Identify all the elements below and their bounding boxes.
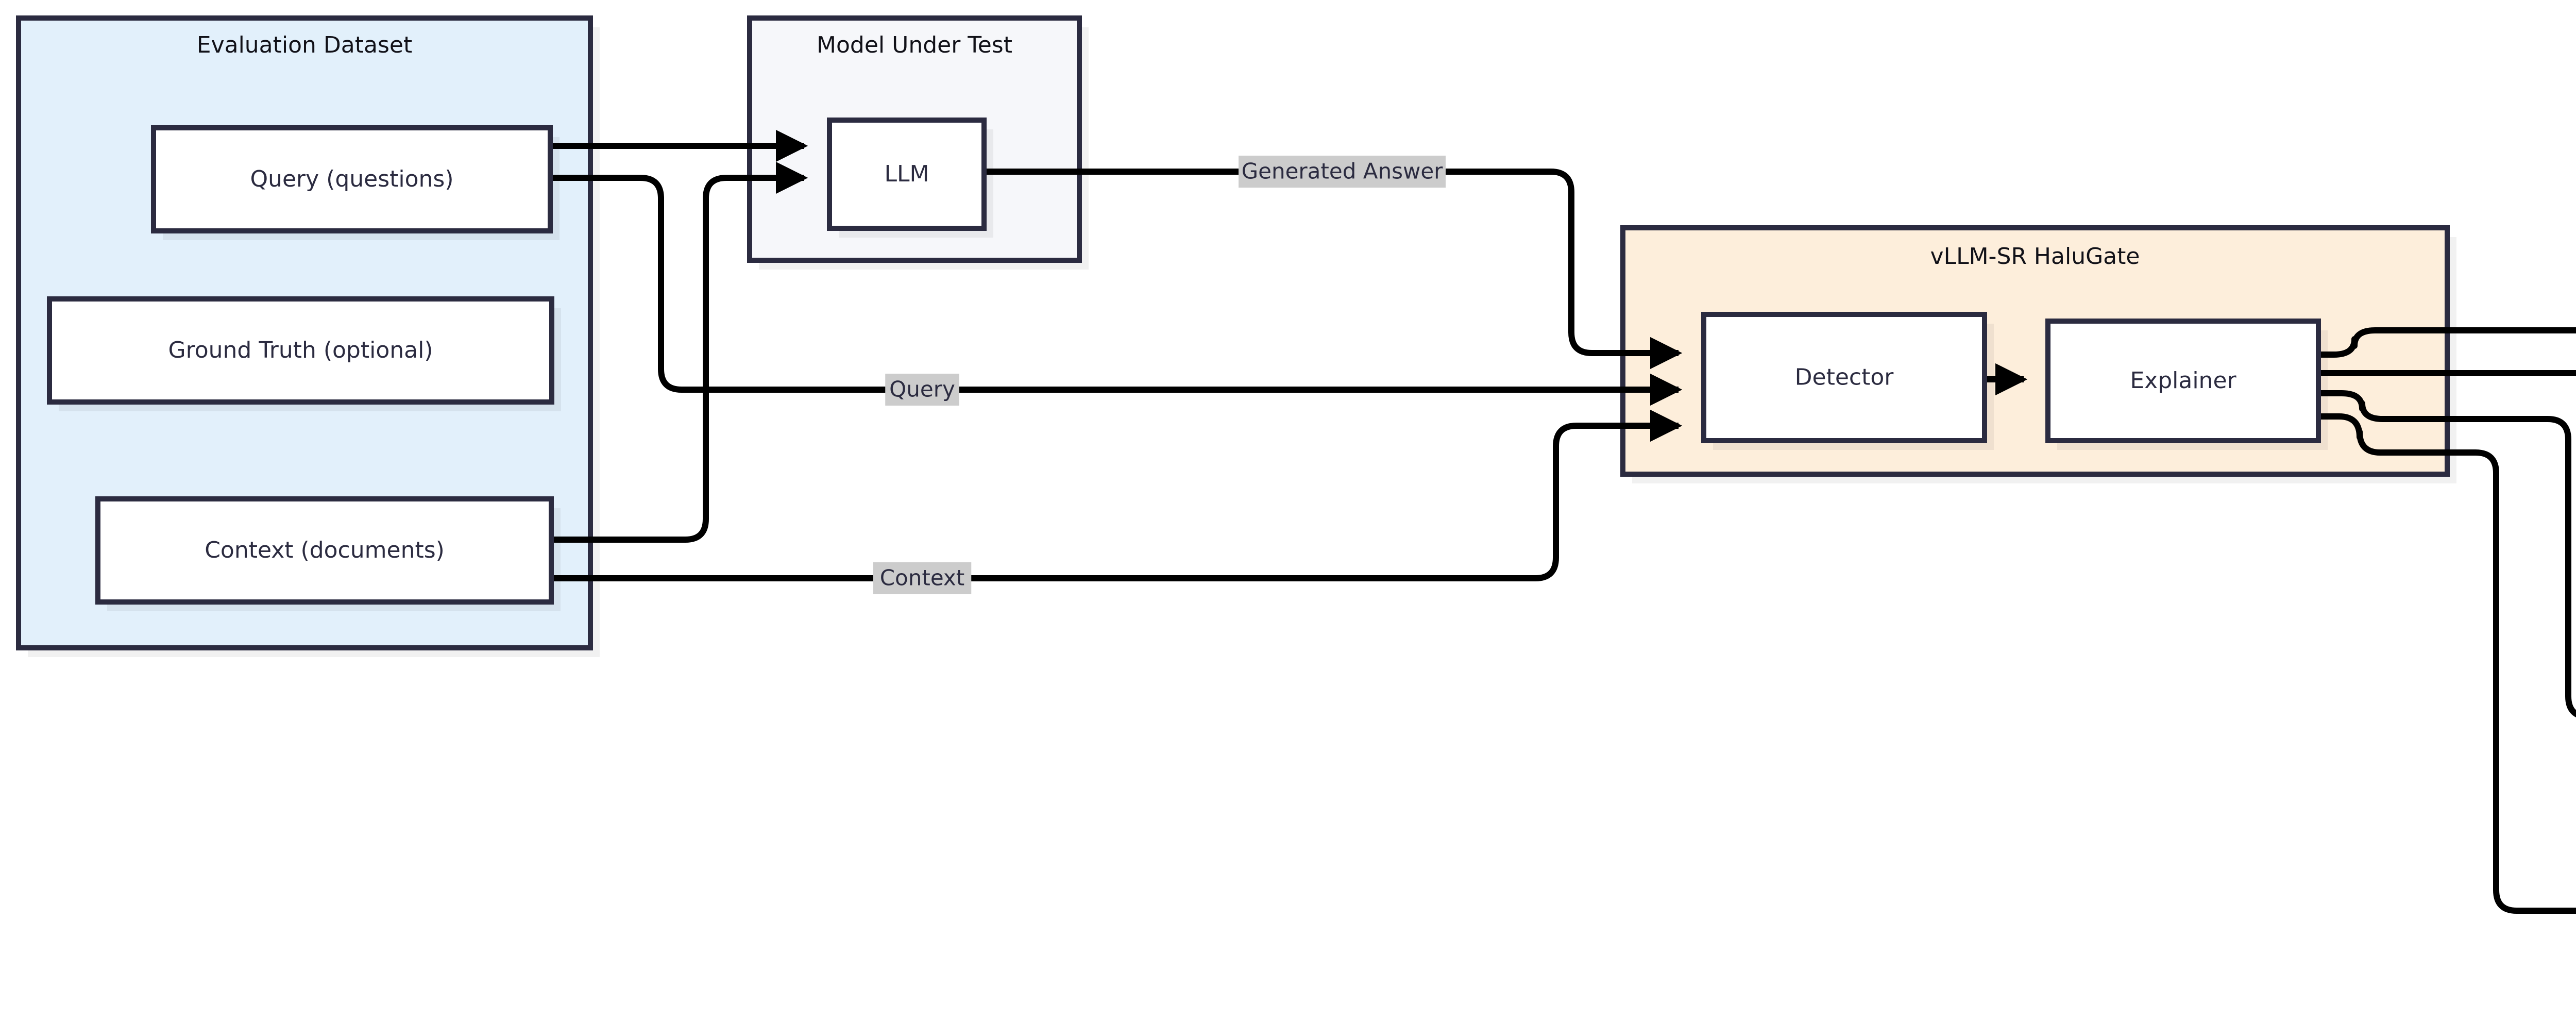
edge-label-text: Context [880,565,965,591]
node-label: Explainer [2130,367,2236,394]
edge-query-to-detector [550,178,1679,390]
edge-context-to-detector [550,426,1679,578]
flowchart-diagram: Evaluation DatasetModel Under TestvLLM-S… [0,0,2576,1021]
node-context-documents[interactable]: Context (documents) [98,499,561,611]
node-label: Context (documents) [205,537,445,563]
cluster-title: Evaluation Dataset [197,32,412,58]
node-query-questions[interactable]: Query (questions) [154,128,560,240]
node-label: LLM [885,161,929,187]
node-label: Detector [1795,364,1894,391]
flowchart-canvas: Evaluation DatasetModel Under TestvLLM-S… [0,0,2576,1021]
edge-label-text: Generated Answer [1242,159,1444,184]
edge-label-context-to-detector: Context [873,562,972,594]
edge-label-text: Query [889,377,955,402]
node-llm[interactable]: LLM [829,120,993,238]
cluster-title: vLLM-SR HaluGate [1930,243,2140,270]
node-detector[interactable]: Detector [1704,314,1994,450]
node-label: Query (questions) [250,166,453,192]
node-label: Ground Truth (optional) [168,337,433,363]
cluster-title: Model Under Test [817,32,1012,58]
node-explainer[interactable]: Explainer [2048,321,2328,450]
node-ground-truth[interactable]: Ground Truth (optional) [49,299,561,411]
edge-explainer-to-perspan [2318,416,2576,911]
edge-label-llm-to-detector: Generated Answer [1239,156,1446,188]
edge-label-query-to-detector: Query [885,374,959,406]
